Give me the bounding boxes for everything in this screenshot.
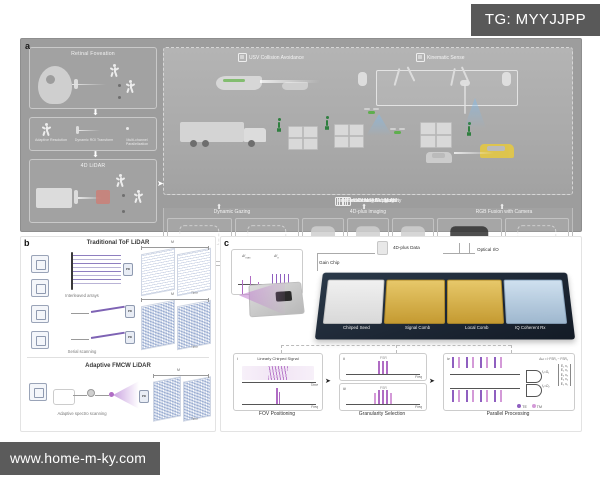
callout-gain-chip: Gain Chip (319, 260, 339, 265)
panel-b-letter: b (24, 239, 30, 248)
stage-roman-iii: iii (343, 386, 346, 391)
pcb-block-local-comb (447, 280, 504, 324)
panel-a-scene-tag-row: Industrial AGV SLAM Humanoid Robot Mobil… (163, 196, 573, 206)
photodetector (123, 263, 133, 276)
m-span-line (141, 247, 209, 248)
panel-b-title-fmcw: Adaptive FMCW LiDAR (21, 363, 215, 369)
m-span-label: M (177, 368, 180, 372)
truck (180, 120, 272, 150)
uav-drone (390, 128, 406, 135)
panel-b-caption-serial: Serial scanning (27, 349, 137, 354)
matrix-row: E₅ x₅ (561, 382, 568, 386)
processing-heading-0: Dynamic Gazing (164, 209, 300, 217)
panel-a: a Retinal Foveation ⬇ (20, 38, 582, 232)
m-span-line (153, 375, 209, 376)
stage-i-title: Linearly Chirped Signal (234, 356, 322, 361)
processing-heading-2: RGB Fusion with Camera (436, 209, 572, 217)
stage-arrow: ➤ (429, 377, 435, 385)
mechanism-label-2: Multi-channel Parallelization (116, 138, 158, 146)
point-cloud-grid (183, 376, 211, 421)
point-cloud-grid (141, 300, 175, 351)
parallel-legend: TE TM (517, 404, 542, 409)
point-cloud-grid (177, 300, 211, 351)
photodetector (125, 305, 135, 318)
fourd-lidar-title: 4D LiDAR (30, 163, 156, 169)
processing-heading-1: 4D-plus imaging (300, 209, 436, 217)
retinal-foveation-box: Retinal Foveation (29, 47, 157, 109)
m-span-line (141, 299, 209, 300)
stage-caption-granularity: Granularity Selection (339, 411, 425, 441)
figure-canvas: a Retinal Foveation ⬇ (0, 0, 600, 480)
panel-c-letter: c (224, 239, 229, 248)
pcb-label-iq-rx: IQ Coherent Rx (515, 325, 546, 330)
chip-icon (31, 255, 49, 273)
output-matrix: E₁ x₁ E₂ x₂ E₃ x₃ E₄ x₄ E₅ x₅ (558, 364, 571, 386)
fourd-lidar-box: 4D LiDAR (29, 159, 157, 223)
pcb-label-signal-comb: Signal Comb (405, 325, 430, 330)
arm-icon (416, 53, 425, 62)
runner-icon (116, 174, 125, 187)
legend-item-te: TE (517, 404, 527, 409)
boat-icon (238, 53, 247, 62)
mixer-gate (526, 384, 542, 397)
scene-tag-usv: USV Collision Avoidance (238, 53, 304, 62)
axis-label-time: Time (191, 417, 198, 421)
axis-label-freq: Freq (415, 375, 422, 379)
stage-roman-ii: ii (343, 356, 345, 361)
runner-icon (134, 190, 143, 203)
callout-4d-plus-data: 4D-plus Data (393, 245, 420, 250)
panel-b-caption-interleaved: Interleaved arrays (27, 293, 137, 298)
panel-a-left-column: Retinal Foveation ⬇ (29, 47, 157, 223)
parallel-term-0: f₁=Ω₁ (542, 370, 549, 374)
photodetector (125, 331, 135, 344)
site-watermark: www.home-m-ky.com (0, 442, 160, 475)
m-span-label: M (171, 292, 174, 296)
pcb-block-chirped-seed (323, 280, 385, 324)
fsr-label: FSR (380, 356, 387, 360)
point-cloud-grid (153, 376, 181, 421)
pcb-label-chirped-seed: Chirped Seed (343, 325, 370, 330)
chip-icon (29, 383, 47, 401)
scene-tag-selfdriving: Self-Driving Navigation (337, 197, 399, 206)
humanoid-robot (276, 118, 282, 132)
stage-caption-fov: FOV Positioning (233, 411, 321, 441)
stage-roman-iv: iv (447, 356, 450, 361)
scene-tag-kinematic: Kinematic Sense (416, 53, 465, 62)
head-icon (38, 66, 72, 104)
axis-label-time: Time (191, 345, 198, 349)
stage-arrow: ➤ (325, 377, 331, 385)
humanoid-robot (324, 116, 330, 130)
stage-fov-positioning: i Linearly Chirped Signal Time Freq (233, 353, 323, 411)
flow-arrow-down: ⬇ (92, 151, 99, 158)
mixer-gate (526, 370, 542, 383)
matrix-row: E₄ x₄ (561, 377, 568, 381)
stage-granularity-iii: iii FSR Freq (339, 383, 427, 411)
retinal-foveation-title: Retinal Foveation (30, 51, 156, 57)
legend-item-tm: TM (532, 404, 542, 409)
m-span-label: M (171, 240, 174, 244)
stage-caption-parallel: Parallel Processing (443, 411, 573, 441)
point-cloud-grid (177, 248, 211, 297)
parallel-term-1: f₂=Ω₂ (542, 384, 550, 388)
uav-scan-beam (366, 114, 392, 136)
axis-label-time: Time (310, 383, 318, 387)
runner-icon (42, 123, 51, 136)
panel-b-title-tof: Traditional ToF LiDAR (21, 240, 215, 246)
pcb-block-iq-rx (504, 280, 568, 324)
axis-label-freq: Freq (415, 405, 422, 409)
chip-icon (31, 305, 49, 323)
panel-b-divider (27, 357, 209, 358)
pcb-label-local-comb: Local Comb (465, 325, 488, 330)
telegram-badge: TG: MYYJJPP (471, 4, 600, 36)
photodetector (139, 390, 149, 403)
callout-optical-io: Optical I/O (477, 247, 499, 252)
vehicle-car (426, 152, 452, 163)
vehicle-car (480, 144, 514, 158)
usv-boat (216, 76, 262, 90)
chip-icon (31, 331, 49, 349)
usv-boat (282, 82, 308, 90)
modulator-box (53, 389, 75, 405)
point-cloud-grid (141, 248, 175, 297)
panel-b: b Traditional ToF LiDAR Interleaved arra… (20, 236, 216, 432)
stage-granularity-ii: ii FSR Freq (339, 353, 427, 381)
spectro-scan-fan (113, 381, 139, 409)
panel-c: c Δfmax Δfn 4D-plus Data Gain Chip Optic… (220, 236, 582, 432)
axis-label-freq: Freq (311, 405, 318, 409)
mechanisms-box: Adaptive Resolution Dynamic ROI Transfor… (29, 117, 157, 151)
panel-a-letter: a (25, 42, 30, 51)
car-icon (337, 197, 346, 206)
parallel-formula: Δω = l·FSR₁ − FSR₂ (539, 357, 568, 361)
mechanism-label-1: Dynamic ROI Transform (73, 138, 115, 142)
pcb-block-signal-comb (384, 280, 445, 324)
uav-drone (364, 108, 380, 115)
runner-icon (126, 80, 135, 93)
flow-arrow-down: ⬇ (92, 109, 99, 116)
stage-parallel-processing: iv Δω = l·FSR₁ − FSR₂ f₁=Ω₁ f₂=Ω₂ E₁ x₁ … (443, 353, 575, 411)
mechanism-label-0: Adaptive Resolution (30, 138, 72, 142)
panel-a-scene: USV Collision Avoidance Kinematic Sense (163, 47, 573, 195)
axis-label-time: Time (191, 291, 198, 295)
runner-icon (110, 64, 119, 77)
panel-b-caption-adaptive: Adaptive spectro scanning (27, 411, 137, 416)
processing-headings: Dynamic Gazing 4D-plus imaging RGB Fusio… (164, 209, 572, 217)
